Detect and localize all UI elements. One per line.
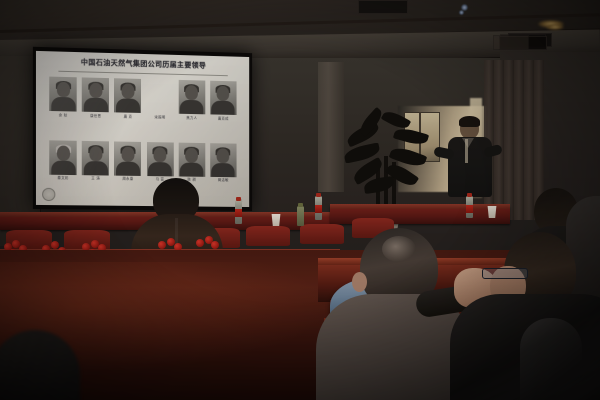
rose [158,241,166,249]
portrait-cell: 唐克成 [209,81,237,142]
portrait-body [51,160,75,174]
bottle-label [466,205,473,213]
portrait-body [116,98,140,113]
portrait-name: 秦文彩 [57,176,68,181]
company-seal-icon [42,188,55,201]
portrait-cell: 余 秋 [48,77,78,139]
conference-desk-top [330,204,510,209]
portrait-photo [178,142,205,176]
portrait-photo [210,143,236,177]
portrait-photo [147,142,174,176]
portrait-photo [210,81,236,115]
portrait-body [212,101,235,115]
rose [196,239,204,247]
portrait-photo [49,77,76,112]
water-bottle [235,200,242,224]
ceiling-tile-grille [493,35,529,50]
portrait-name: 唐 克 [124,114,133,119]
presenter-body [448,137,492,197]
portrait-name: 康世恩 [90,113,101,118]
portrait-head [185,85,198,100]
attendee-ear [352,272,367,292]
air-vent [358,0,408,14]
portrait-body [212,163,235,177]
portrait-photo [49,140,76,175]
portrait-photo-missing [147,79,174,114]
portrait-body [148,162,172,176]
conference-room-photo: 中国石油天然气集团公司历届主要领导 余 秋 [0,0,600,400]
water-bottle [466,196,473,218]
attendee-hair-highlight [382,236,416,262]
portrait-cell: 焦力人 [177,80,206,141]
portrait-head [56,82,69,97]
portrait-body [51,97,75,112]
portrait-photo [114,78,141,113]
water-bottle [315,196,322,220]
portrait-body [84,98,108,113]
water-bottle [297,206,304,226]
ceiling-spot-light [459,10,464,15]
portrait-head [217,86,230,101]
jacket-sheen [520,318,582,400]
portrait-head [217,148,230,163]
bottle-cap [236,197,241,201]
portrait-cell: 宋振明 [145,79,174,140]
bottle-label [235,209,242,217]
portrait-head [121,84,134,99]
plant-leaf [393,126,429,148]
bottle-cap [298,203,303,207]
rose [211,241,219,249]
portrait-head [89,83,102,98]
portrait-cell: 唐 克 [113,78,142,139]
portrait-head [121,147,134,162]
portrait-name: 焦力人 [186,115,197,120]
portrait-photo [114,141,141,175]
bottle-cap [467,193,472,197]
portrait-head [89,146,102,161]
portrait-cell: 王 涛 [81,140,110,201]
bottle-cap [316,193,321,197]
portrait-body [180,162,204,176]
portrait-head [185,148,198,163]
recessed-downlight [546,24,564,30]
portrait-photo [178,80,205,114]
portrait-body [84,161,108,175]
portrait-name: 余 秋 [59,113,68,118]
portrait-photo [82,77,109,112]
presenter-lanyard [465,139,468,163]
bottle-label [315,205,322,213]
portrait-body [180,100,204,114]
portrait-body [116,161,140,175]
portrait-name: 宋振明 [154,115,165,120]
red-upholstered-chair [246,226,290,246]
portrait-head [154,147,167,162]
portrait-name: 王 涛 [91,176,100,181]
foreground-attendee-right [460,232,600,400]
eyeglasses-icon [482,268,528,279]
portrait-head [56,145,69,160]
portrait-name: 唐克成 [218,116,229,121]
portrait-cell: 康世恩 [81,77,110,139]
portrait-photo [82,140,109,175]
wall-column [318,62,344,192]
presenter-hair [459,116,480,127]
